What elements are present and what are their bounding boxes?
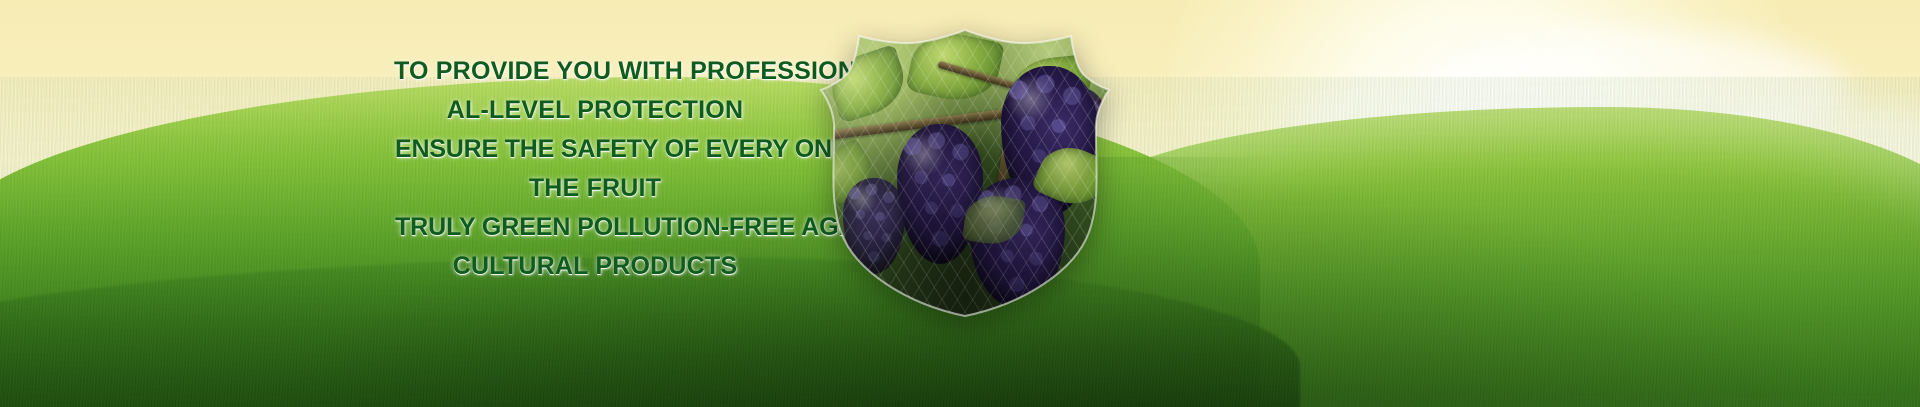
headline-line: TRULY GREEN POLLUTION-FREE AGRI- — [395, 208, 795, 247]
headline-line: AL-LEVEL PROTECTION — [395, 91, 795, 130]
shield-photo — [815, 28, 1115, 318]
headline-line: ENSURE THE SAFETY OF EVERY ONE OF — [395, 130, 795, 169]
shield-sheen — [815, 28, 1115, 318]
banner-headline: TO PROVIDE YOU WITH PROFESSION- AL-LEVEL… — [395, 52, 795, 286]
shield-emblem — [815, 28, 1115, 318]
headline-line: THE FRUIT — [395, 169, 795, 208]
hero-banner: TO PROVIDE YOU WITH PROFESSION- AL-LEVEL… — [0, 0, 1920, 407]
headline-line: TO PROVIDE YOU WITH PROFESSION- — [394, 52, 794, 91]
headline-line: CULTURAL PRODUCTS — [395, 247, 795, 286]
